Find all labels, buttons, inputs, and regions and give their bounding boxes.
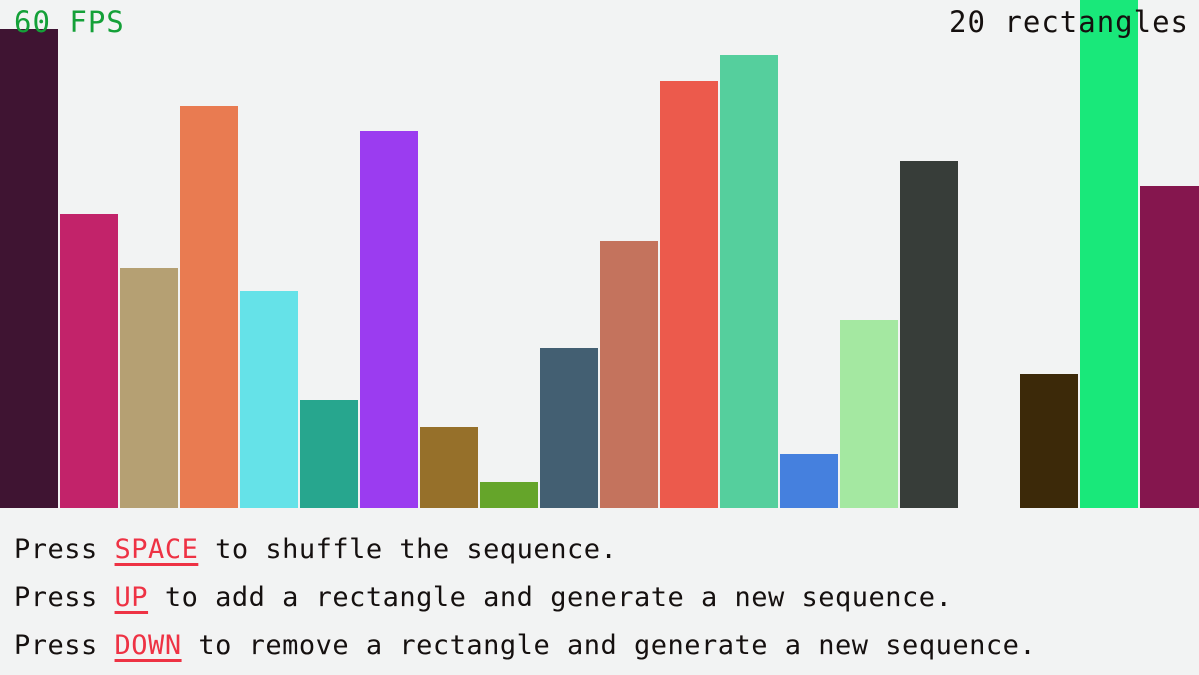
bar-rectangle <box>780 454 838 508</box>
instruction-line-3: Press DOWN to remove a rectangle and gen… <box>14 622 1199 670</box>
instruction-line-2: Press UP to add a rectangle and generate… <box>14 574 1199 622</box>
bar-rectangle <box>480 482 538 508</box>
bar-rectangle <box>300 400 358 508</box>
key-hint-up[interactable]: UP <box>115 582 149 613</box>
bar-rectangle <box>180 106 238 508</box>
bar-rectangle <box>540 348 598 508</box>
instructions-panel: Press SPACE to shuffle the sequence.Pres… <box>0 508 1199 675</box>
fps-counter: 60 FPS <box>14 8 125 37</box>
bar-rectangle <box>720 55 778 508</box>
instruction-prefix: Press <box>14 534 115 565</box>
instruction-prefix: Press <box>14 630 115 661</box>
bar-rectangle <box>120 268 178 508</box>
bar-rectangle <box>1020 374 1078 508</box>
instruction-prefix: Press <box>14 582 115 613</box>
instruction-suffix: to add a rectangle and generate a new se… <box>148 582 952 613</box>
app-root: 60 FPS 20 rectangles Press SPACE to shuf… <box>0 0 1199 675</box>
bar-chart-canvas <box>0 0 1199 508</box>
key-hint-down[interactable]: DOWN <box>115 630 182 661</box>
bar-rectangle <box>1080 0 1138 508</box>
instruction-suffix: to remove a rectangle and generate a new… <box>182 630 1037 661</box>
bar-rectangle <box>900 161 958 508</box>
bar-rectangle <box>1140 186 1199 508</box>
bar-rectangle <box>660 81 718 508</box>
rectangle-count-label: 20 rectangles <box>949 8 1189 37</box>
bar-rectangle <box>240 291 298 508</box>
bar-rectangle <box>360 131 418 508</box>
bar-rectangle <box>0 29 58 508</box>
instruction-line-1: Press SPACE to shuffle the sequence. <box>14 526 1199 574</box>
instruction-suffix: to shuffle the sequence. <box>198 534 617 565</box>
key-hint-space[interactable]: SPACE <box>115 534 199 565</box>
bar-rectangle <box>60 214 118 508</box>
bar-rectangle <box>840 320 898 508</box>
bar-rectangle <box>420 427 478 508</box>
bar-rectangle <box>600 241 658 508</box>
